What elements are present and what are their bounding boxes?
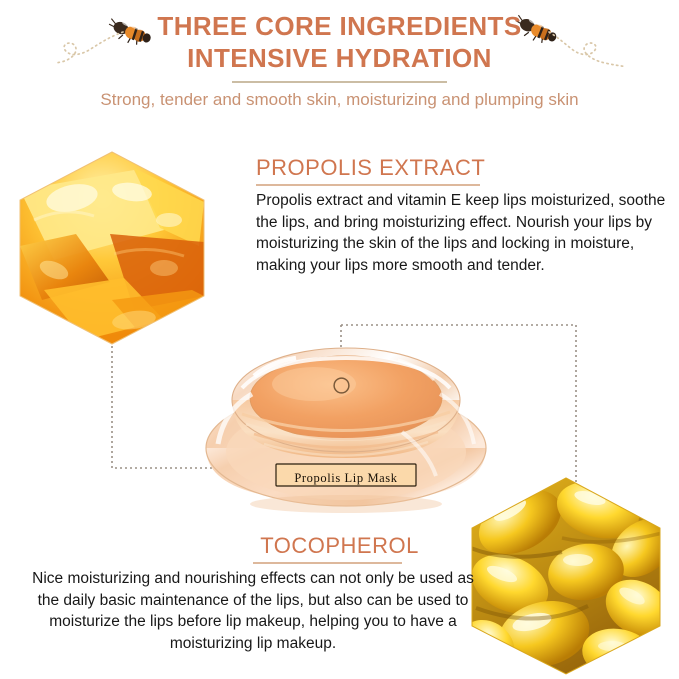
infographic-page: THREE CORE INGREDIENTS INTENSIVE HYDRATI… <box>0 0 679 679</box>
section-rule-propolis <box>256 184 480 186</box>
header: THREE CORE INGREDIENTS INTENSIVE HYDRATI… <box>0 0 679 130</box>
product-label-text: Propolis Lip Mask <box>276 471 416 486</box>
section-heading-tocopherol: TOCOPHEROL <box>0 533 679 559</box>
page-title-line-2: INTENSIVE HYDRATION <box>0 43 679 74</box>
section-body-tocopherol: Nice moisturizing and nourishing effects… <box>28 568 478 654</box>
section-heading-propolis: PROPOLIS EXTRACT <box>256 155 485 181</box>
honeycomb-propolis-hexagon-image <box>14 150 210 346</box>
circle-marker-icon <box>332 376 351 395</box>
lip-mask-jar-image <box>202 336 490 514</box>
section-rule-tocopherol <box>253 562 402 564</box>
vitamin-e-capsules-hexagon-image <box>466 476 666 676</box>
title-divider <box>232 81 447 83</box>
section-body-propolis: Propolis extract and vitamin E keep lips… <box>256 190 668 276</box>
page-subtitle: Strong, tender and smooth skin, moisturi… <box>0 90 679 110</box>
page-title-line-1: THREE CORE INGREDIENTS <box>0 11 679 42</box>
